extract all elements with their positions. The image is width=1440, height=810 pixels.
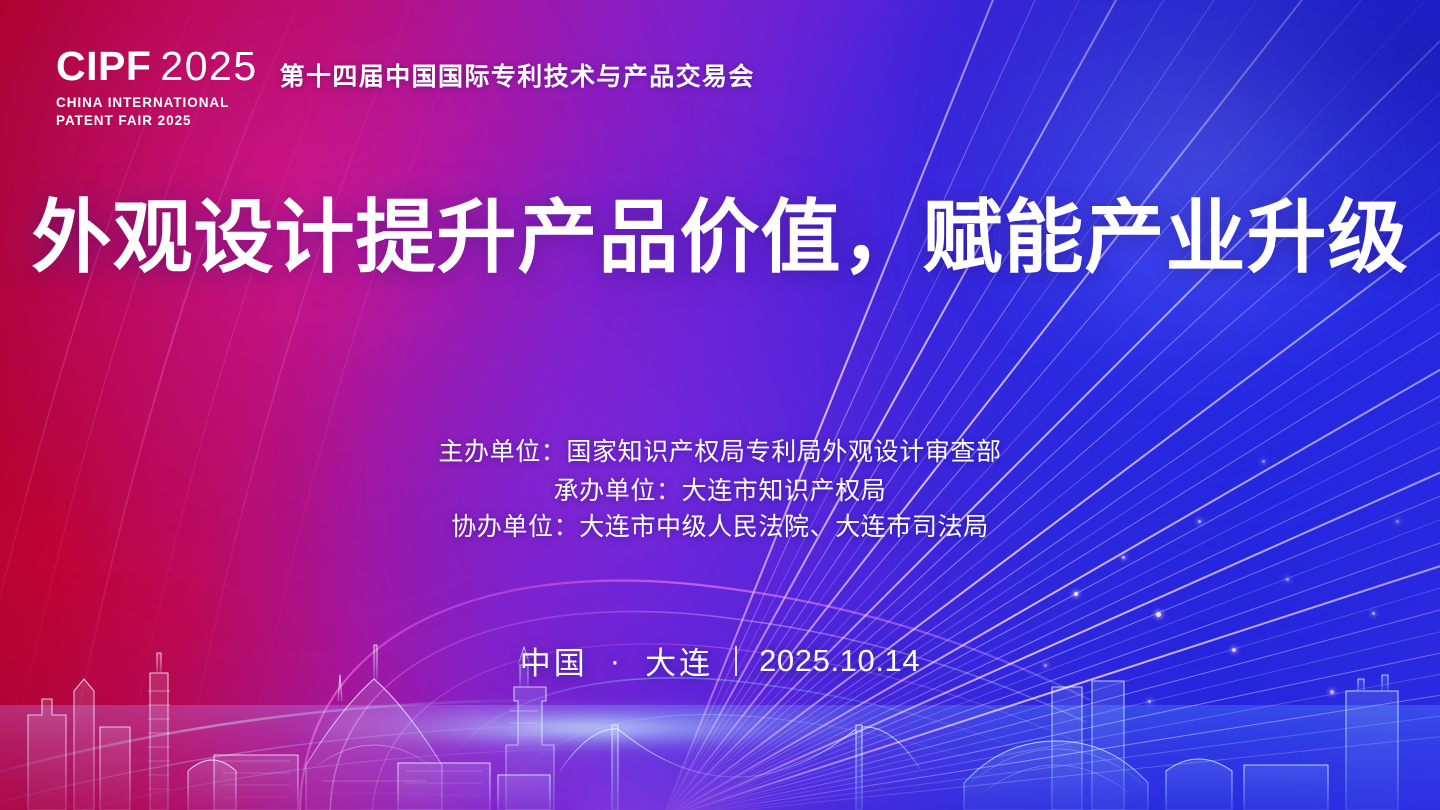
logo-subtitle: CHINA INTERNATIONAL PATENT FAIR 2025	[56, 94, 229, 130]
logo-wordmark: CIPF 2025	[56, 46, 258, 87]
organizer-line-undertaker: 承办单位：大连市知识产权局	[554, 473, 887, 510]
organizer-name-host: 国家知识产权局专利局外观设计审查部	[566, 438, 1001, 466]
event-date: 2025.10.14	[759, 643, 920, 679]
organizer-line-coorganizer: 协办单位：大连市中级人民法院、大连市司法局	[451, 509, 989, 546]
logo-subtitle-line-2: PATENT FAIR 2025	[56, 112, 229, 130]
poster-header: CIPF 2025 CHINA INTERNATIONAL PATENT FAI…	[56, 46, 755, 130]
location-city: 大连	[645, 638, 713, 683]
location-country: 中国	[520, 638, 588, 683]
horizon-glow	[317, 698, 1123, 758]
event-name-chinese: 第十四届中国国际专利技术与产品交易会	[280, 57, 755, 93]
organizer-block: 主办单位：国家知识产权局专利局外观设计审查部 承办单位：大连市知识产权局 协办单…	[0, 434, 1440, 546]
location-date-line: 中国 · 大连 2025.10.14	[0, 638, 1440, 683]
organizer-line-host: 主办单位：国家知识产权局专利局外观设计审查部	[438, 434, 1001, 471]
organizer-role-host: 主办单位：	[438, 438, 566, 466]
organizer-name-undertaker: 大连市知识产权局	[682, 477, 887, 505]
organizer-role-undertaker: 承办单位：	[554, 477, 682, 505]
organizer-role-coorganizer: 协办单位：	[451, 513, 579, 541]
organizer-name-coorganizer: 大连市中级人民法院、大连市司法局	[579, 513, 989, 541]
page-title: 外观设计提升产品价值，赋能产业升级	[0, 196, 1440, 280]
cipf-logo: CIPF 2025 CHINA INTERNATIONAL PATENT FAI…	[56, 46, 258, 130]
location-date-separator	[735, 646, 737, 676]
poster-canvas: CIPF 2025 CHINA INTERNATIONAL PATENT FAI…	[0, 0, 1440, 810]
location-dot: ·	[610, 643, 623, 679]
logo-year: 2025	[160, 46, 257, 87]
logo-subtitle-line-1: CHINA INTERNATIONAL	[56, 94, 229, 112]
logo-acronym: CIPF	[56, 46, 151, 87]
